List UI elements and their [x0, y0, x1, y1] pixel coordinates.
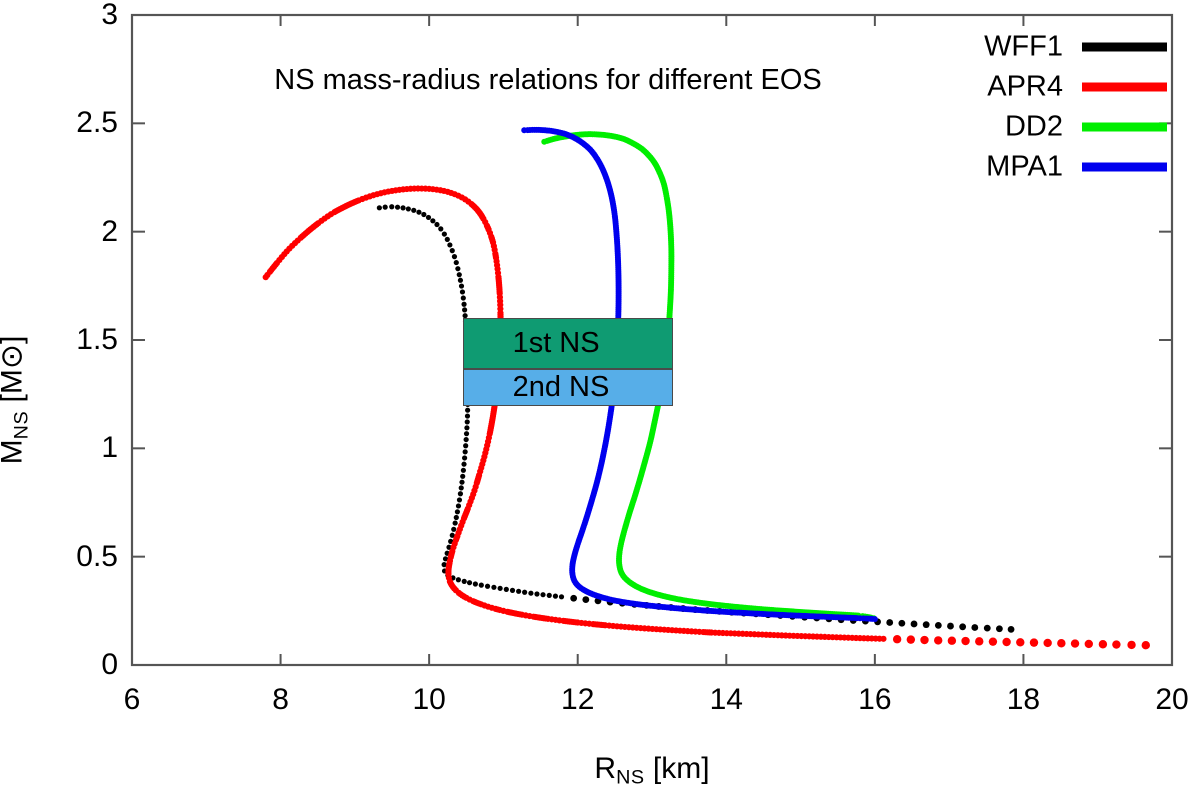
y-axis-label-base: M: [0, 439, 29, 464]
data-series-group: [263, 127, 1150, 650]
legend-label-dd2: DD2: [1005, 111, 1063, 144]
legend-swatch-wff1: [1082, 43, 1167, 52]
chart-title: NS mass-radius relations for different E…: [274, 64, 821, 97]
y-tick-label: 2.5: [76, 106, 118, 140]
x-tick-label: 12: [561, 683, 594, 717]
legend-swatch-mpa1: [1082, 163, 1167, 172]
y-axis-label-subscript: NS: [10, 411, 32, 439]
series-wff1: [377, 204, 1015, 633]
legend-label-wff1: WFF1: [984, 31, 1063, 64]
x-tick-label: 20: [1155, 683, 1188, 717]
x-tick-label: 6: [124, 683, 141, 717]
y-axis-label-sun-symbol: ⊙: [0, 344, 29, 369]
x-axis-label: RNS [km]: [594, 752, 709, 790]
x-tick-label: 16: [858, 683, 891, 717]
legend-label-apr4: APR4: [987, 71, 1063, 104]
y-tick-label: 0: [101, 648, 118, 682]
y-tick-label: 2: [101, 215, 118, 249]
y-axis-label-unit: [M: [0, 369, 29, 411]
y-tick-label: 1: [101, 431, 118, 465]
x-tick-label: 18: [1007, 683, 1040, 717]
x-axis-label-subscript: NS: [616, 767, 644, 789]
series-apr4: [263, 185, 1150, 649]
x-axis-label-unit: [km]: [645, 752, 710, 785]
x-axis-label-base: R: [594, 752, 616, 785]
legend-swatch-dd2: [1082, 123, 1167, 132]
y-axis-label: MNS [M⊙]: [0, 336, 33, 465]
figure-canvas: NS mass-radius relations for different E…: [0, 0, 1200, 800]
legend-label-mpa1: MPA1: [986, 151, 1063, 184]
legend-swatch-apr4: [1082, 83, 1167, 92]
annotation-band-label: 2nd NS: [513, 373, 610, 402]
y-tick-label: 0.5: [76, 540, 118, 574]
annotation-band-label: 1st NS: [513, 329, 600, 358]
y-axis-label-close: ]: [0, 336, 29, 344]
y-tick-label: 1.5: [76, 323, 118, 357]
y-tick-label: 3: [101, 0, 118, 32]
x-tick-label: 10: [412, 683, 445, 717]
x-tick-label: 8: [272, 683, 289, 717]
x-tick-label: 14: [710, 683, 743, 717]
